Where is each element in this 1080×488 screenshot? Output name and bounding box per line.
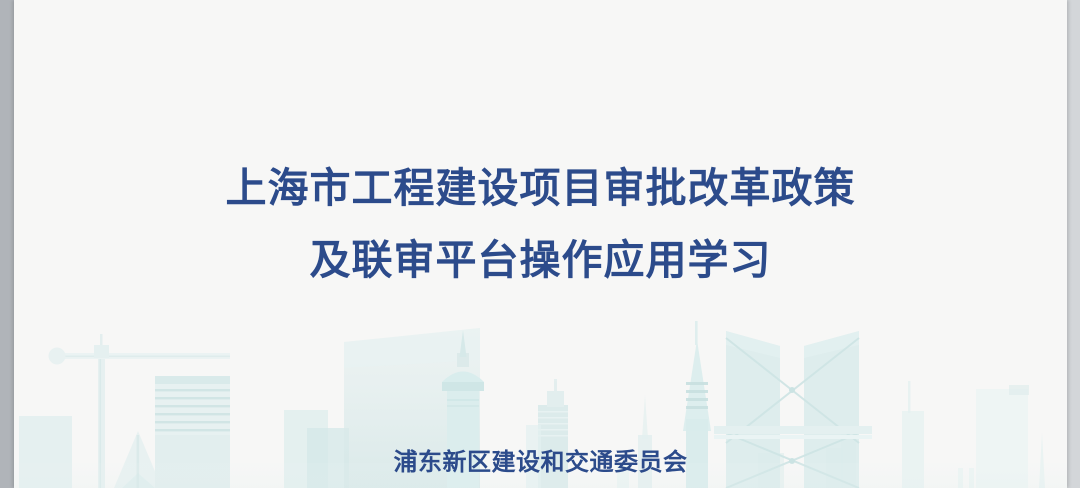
slide-title: 上海市工程建设项目审批改革政策 及联审平台操作应用学习	[14, 152, 1067, 296]
organization-block: 浦东新区建设和交通委员会	[14, 442, 1067, 477]
organization-name: 浦东新区建设和交通委员会	[394, 442, 688, 477]
screenshot-viewport: 上海市工程建设项目审批改革政策 及联审平台操作应用学习 浦东新区建设和交通委员会	[0, 0, 1080, 488]
presentation-slide: 上海市工程建设项目审批改革政策 及联审平台操作应用学习 浦东新区建设和交通委员会	[14, 0, 1067, 488]
title-line-1: 上海市工程建设项目审批改革政策	[14, 152, 1067, 224]
title-line-2: 及联审平台操作应用学习	[14, 224, 1067, 296]
